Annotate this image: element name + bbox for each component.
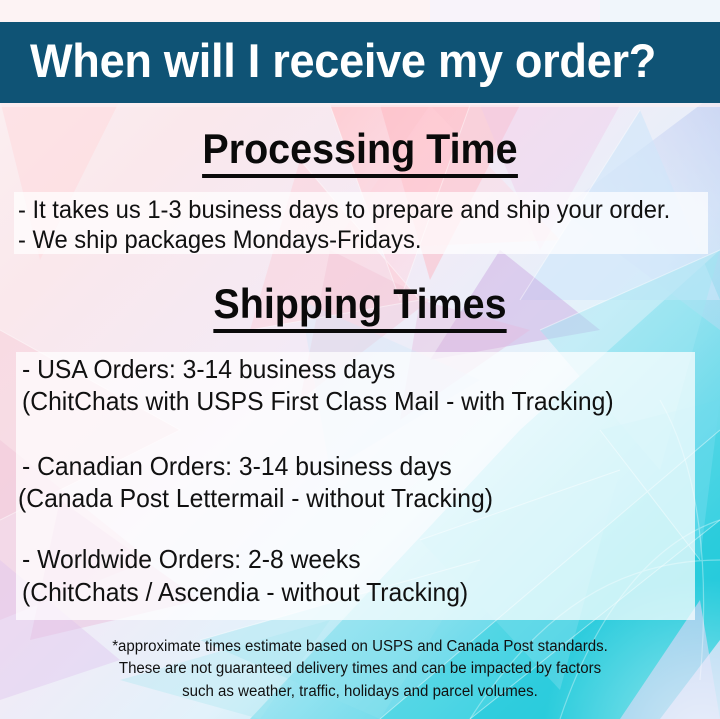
footnote-line-1: *approximate times estimate based on USP… bbox=[11, 636, 709, 658]
heading-shipping-times-text: Shipping Times bbox=[213, 283, 506, 333]
shipping-worldwide-carrier: (ChitChats / Ascendia - without Tracking… bbox=[22, 578, 468, 607]
processing-time-line-2: - We ship packages Mondays-Fridays. bbox=[18, 226, 421, 254]
shipping-usa-carrier: (ChitChats with USPS First Class Mail - … bbox=[22, 387, 614, 416]
heading-shipping-times: Shipping Times bbox=[22, 283, 699, 333]
footnote: *approximate times estimate based on USP… bbox=[0, 636, 720, 703]
heading-processing-time: Processing Time bbox=[22, 128, 699, 178]
header-banner: When will I receive my order? bbox=[0, 22, 720, 103]
footnote-line-3: such as weather, traffic, holidays and p… bbox=[11, 681, 709, 703]
page-title: When will I receive my order? bbox=[30, 37, 656, 84]
shipping-info-graphic: When will I receive my order? Processing… bbox=[0, 0, 720, 719]
shipping-canada-duration: - Canadian Orders: 3-14 business days bbox=[22, 452, 452, 481]
shipping-worldwide-duration: - Worldwide Orders: 2-8 weeks bbox=[22, 545, 361, 574]
heading-processing-time-text: Processing Time bbox=[202, 128, 517, 178]
shipping-canada-carrier: (Canada Post Lettermail - without Tracki… bbox=[18, 484, 493, 513]
footnote-line-2: These are not guaranteed delivery times … bbox=[11, 658, 709, 680]
shipping-usa-duration: - USA Orders: 3-14 business days bbox=[22, 355, 395, 384]
processing-time-line-1: - It takes us 1-3 business days to prepa… bbox=[18, 196, 670, 224]
